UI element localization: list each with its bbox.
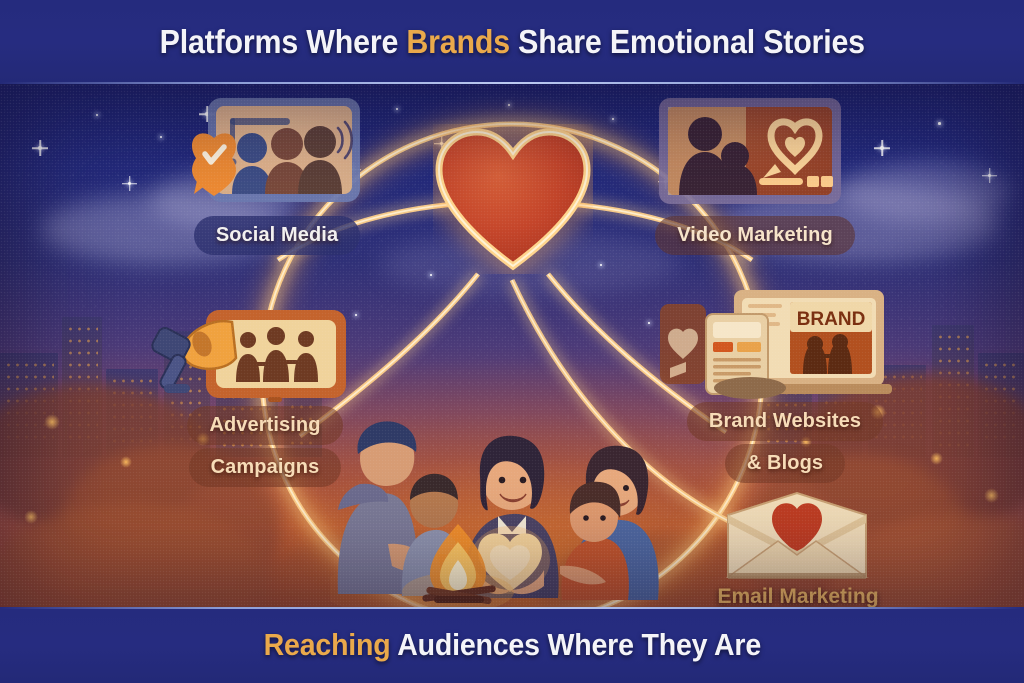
scene: Social Media	[0, 84, 1024, 607]
megaphone-screen-icon	[140, 296, 360, 404]
page-title-lead: Platforms Where	[159, 23, 406, 60]
page-title: Platforms Where Brands Share Emotional S…	[159, 23, 864, 61]
star	[508, 104, 510, 106]
page-caption: Reaching Audiences Where They Are	[263, 627, 760, 663]
node-label-video-marketing: Video Marketing	[655, 216, 855, 255]
star	[38, 146, 42, 150]
star	[96, 114, 98, 116]
footer-band: Reaching Audiences Where They Are	[0, 607, 1024, 683]
city-light	[24, 510, 38, 524]
header-divider	[0, 82, 1024, 84]
node-label-social-media: Social Media	[194, 216, 360, 255]
star	[988, 174, 991, 177]
heart-thumb-doc	[660, 304, 706, 384]
node-label-email-marketing: Email Marketing	[717, 585, 878, 607]
node-advertising-campaigns[interactable]: Advertising Campaigns	[140, 296, 390, 487]
page-title-accent: Brands	[406, 23, 510, 60]
star	[612, 118, 614, 120]
node-social-media[interactable]: Social Media	[152, 94, 402, 255]
node-label-brand-line2: & Blogs	[725, 444, 845, 483]
node-email-marketing[interactable]: Email Marketing	[688, 489, 908, 607]
page-caption-accent: Reaching	[263, 627, 390, 662]
city-light	[984, 488, 999, 503]
laptop-brand-icon: BRAND	[660, 284, 896, 402]
city-light	[930, 452, 943, 465]
city-light	[120, 456, 132, 468]
mouse-icon	[714, 377, 786, 399]
node-label-advertising-line2: Campaigns	[189, 448, 342, 487]
node-label-advertising-line1: Advertising	[187, 406, 342, 445]
infographic-canvas: Platforms Where Brands Share Emotional S…	[0, 0, 1024, 683]
video-player-heart-icon	[655, 94, 845, 212]
node-label-brand-line1: Brand Websites	[687, 402, 883, 441]
brand-screen-text: BRAND	[797, 309, 866, 330]
tablet-people-heart-icon	[192, 94, 370, 212]
envelope-heart-icon	[718, 489, 876, 583]
star	[128, 182, 131, 185]
header-band: Platforms Where Brands Share Emotional S…	[0, 0, 1024, 84]
city-light	[44, 414, 60, 430]
footer-divider	[0, 607, 1024, 609]
node-brand-websites-blogs[interactable]: BRAND	[660, 284, 910, 483]
page-caption-tail: Audiences Where They Are	[390, 627, 761, 662]
node-video-marketing[interactable]: Video Marketing	[625, 94, 885, 255]
page-title-tail: Share Emotional Stories	[510, 23, 865, 60]
star	[938, 122, 941, 125]
star	[600, 264, 602, 266]
heart-icon	[433, 124, 593, 274]
